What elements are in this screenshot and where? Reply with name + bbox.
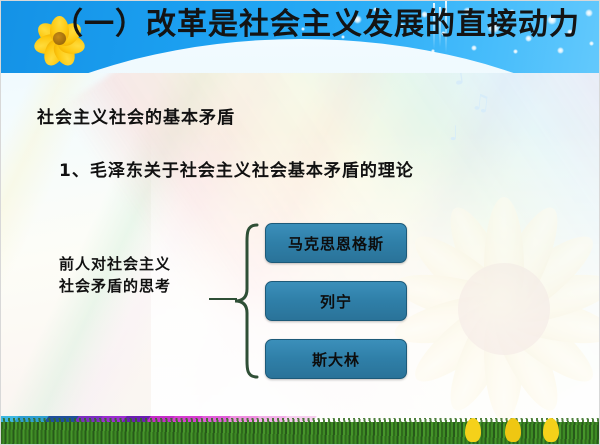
subsection-heading: 1、毛泽东关于社会主义社会基本矛盾的理论 [59,156,414,181]
sunflower-petal-icon [505,418,521,442]
sparkle-icon [431,49,435,53]
music-note-icon: ♩ [449,123,458,143]
curly-brace-icon [233,223,259,379]
diagram-box-1[interactable]: 马克思恩格斯 [265,223,407,263]
sparkle-icon [589,41,594,46]
diagram-box-label: 列宁 [320,291,352,312]
sparkle-icon [585,9,593,17]
sunflower-petal-icon [465,418,481,442]
presentation-slide: ♪ ♫ ♩ （一）改革是社会主义发展的直接动力 社会主义社会的基本矛盾 1、毛泽… [0,0,600,445]
sunflower-petal-icon [543,418,559,442]
diagram-box-label: 斯大林 [312,349,360,370]
diagram-box-2[interactable]: 列宁 [265,281,407,321]
diagram-box-label: 马克思恩格斯 [288,233,384,254]
sparkle-icon [557,47,564,54]
section-heading: 社会主义社会的基本矛盾 [37,103,235,128]
music-note-icon: ♫ [470,92,492,116]
sparkle-icon [513,49,518,54]
sunflower-core-icon [458,263,550,355]
page-title: （一）改革是社会主义发展的直接动力 [53,3,580,47]
sunflower-icon [379,191,600,426]
diagram-left-label: 前人对社会主义 社会矛盾的思考 [59,253,171,297]
diagram-box-3[interactable]: 斯大林 [265,339,407,379]
